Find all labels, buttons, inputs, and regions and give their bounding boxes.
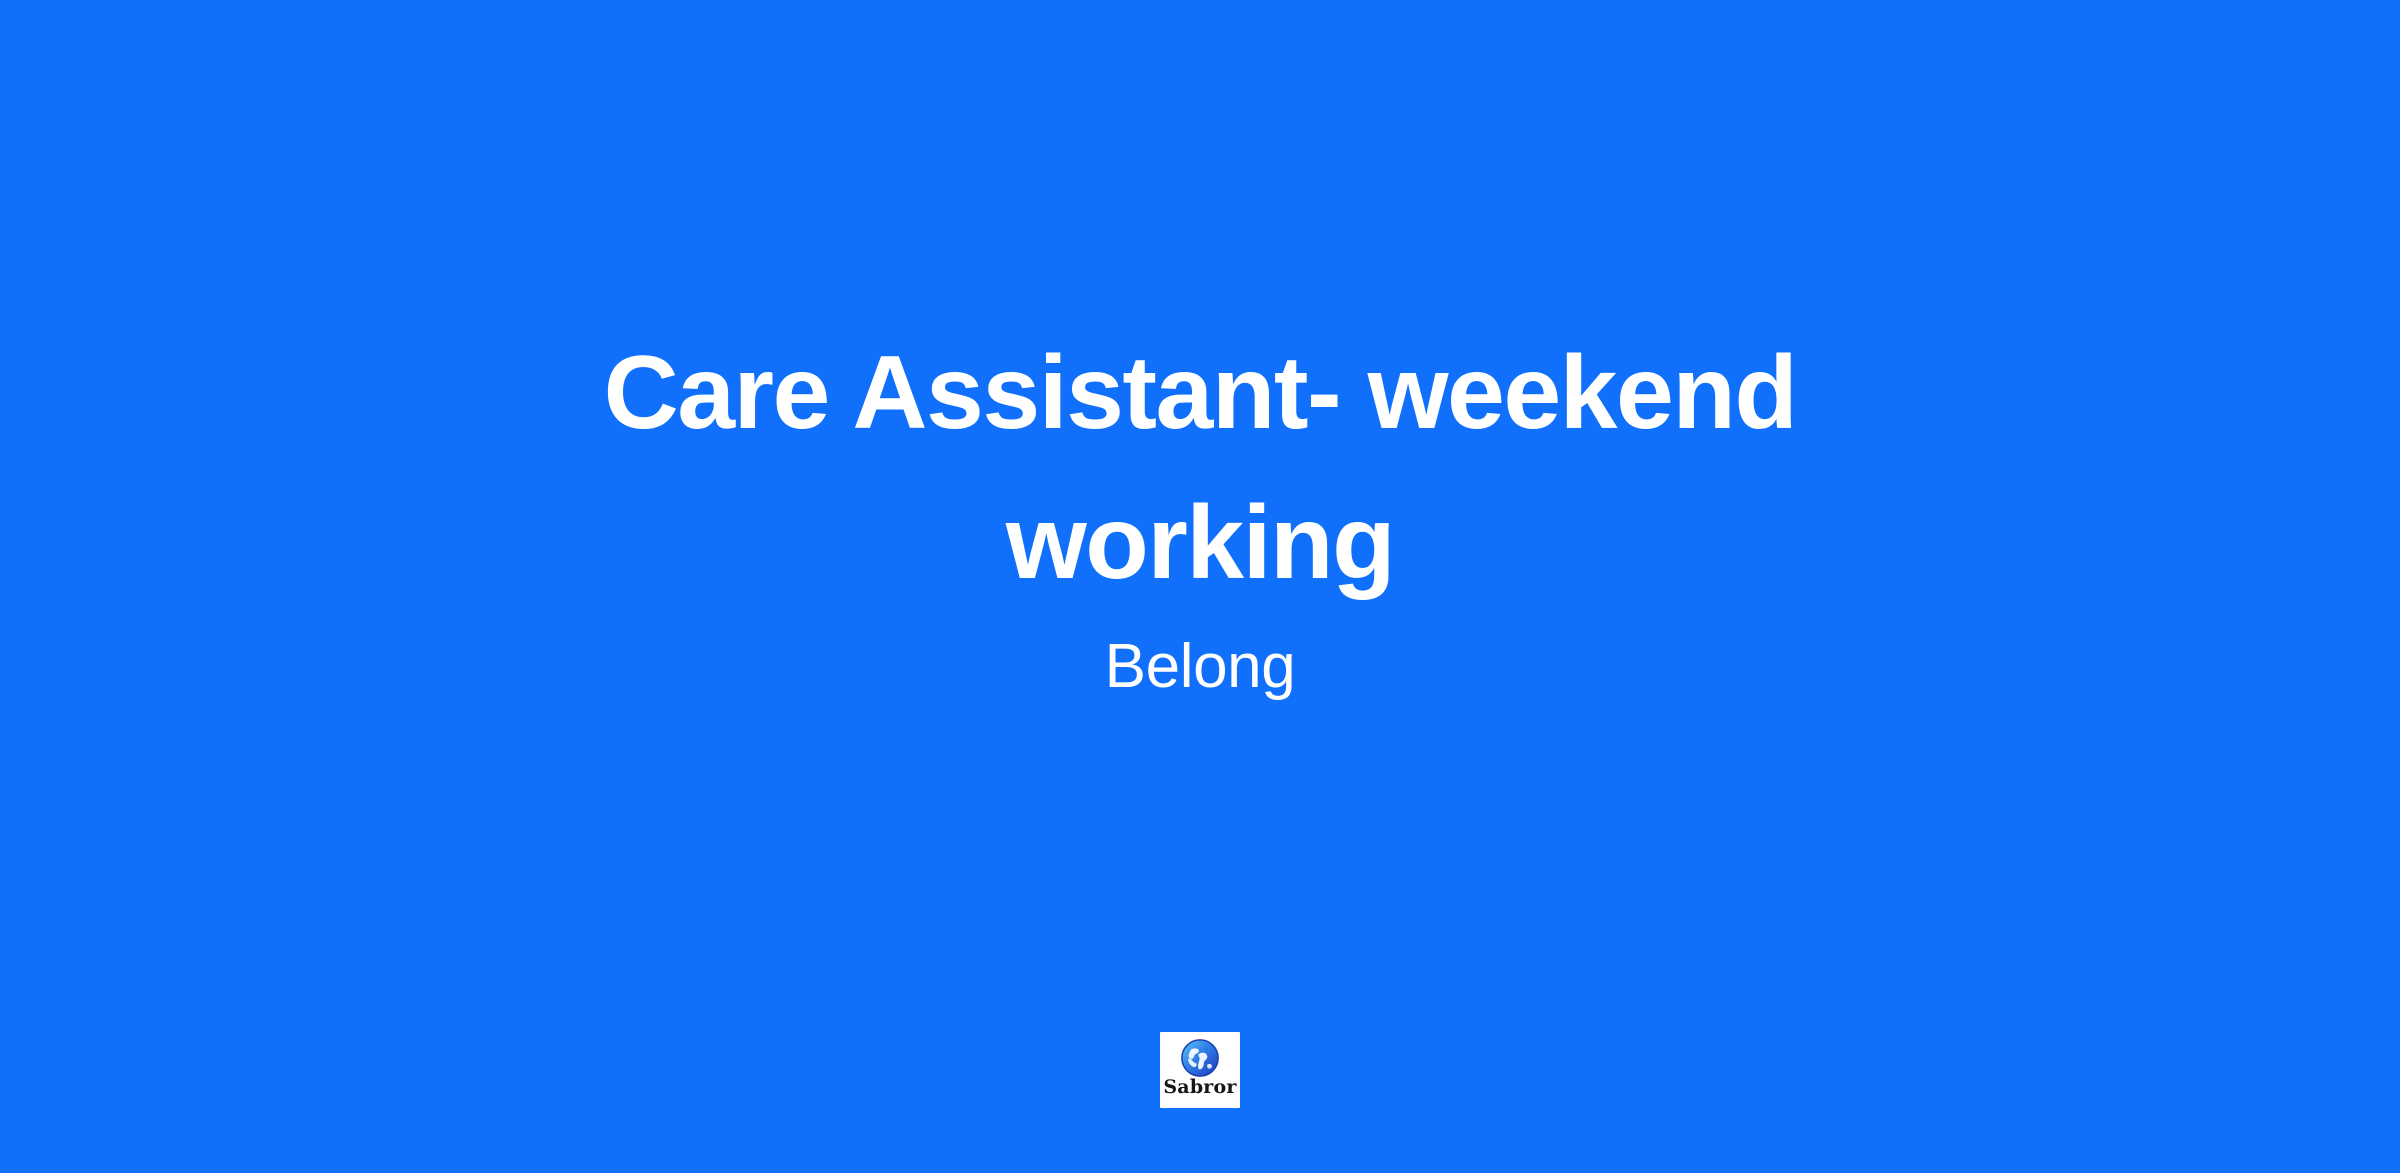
- page-title: Care Assistant- weekend working: [475, 318, 1925, 618]
- brand-logo[interactable]: Sabror: [1160, 1032, 1240, 1108]
- company-name: Belong: [1105, 628, 1296, 706]
- globe-icon: [1180, 1038, 1220, 1078]
- job-share-card: Care Assistant- weekend working Belong S…: [0, 0, 2400, 1173]
- brand-wordmark: Sabror: [1163, 1076, 1236, 1098]
- hero-text-block: Care Assistant- weekend working Belong: [0, 318, 2400, 706]
